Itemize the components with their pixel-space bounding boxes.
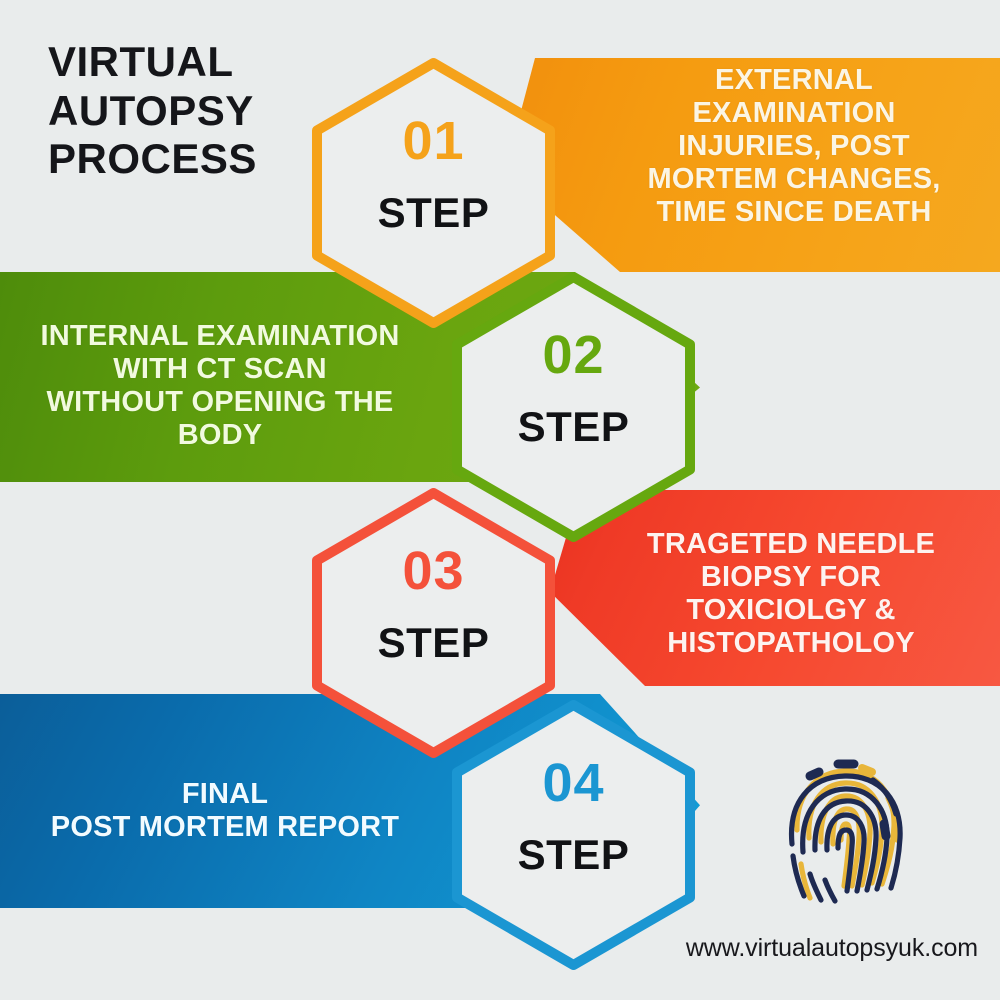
fingerprint-icon	[778, 752, 914, 904]
hexagon-outline-4	[457, 705, 690, 965]
step-hexagon-4[interactable]: 04 STEP	[452, 700, 695, 970]
page-title: VIRTUAL AUTOPSY PROCESS	[48, 38, 257, 184]
infographic-canvas: EXTERNAL EXAMINATION INJURIES, POST MORT…	[0, 0, 1000, 1000]
step-description-2: INTERNAL EXAMINATION WITH CT SCAN WITHOU…	[0, 320, 440, 452]
step-description-4: FINAL POST MORTEM REPORT	[0, 778, 450, 844]
step-description-3: TRAGETED NEEDLE BIOPSY FOR TOXICIOLGY & …	[596, 528, 986, 660]
website-url[interactable]: www.virtualautopsyuk.com	[686, 934, 978, 963]
step-description-1: EXTERNAL EXAMINATION INJURIES, POST MORT…	[594, 64, 994, 229]
